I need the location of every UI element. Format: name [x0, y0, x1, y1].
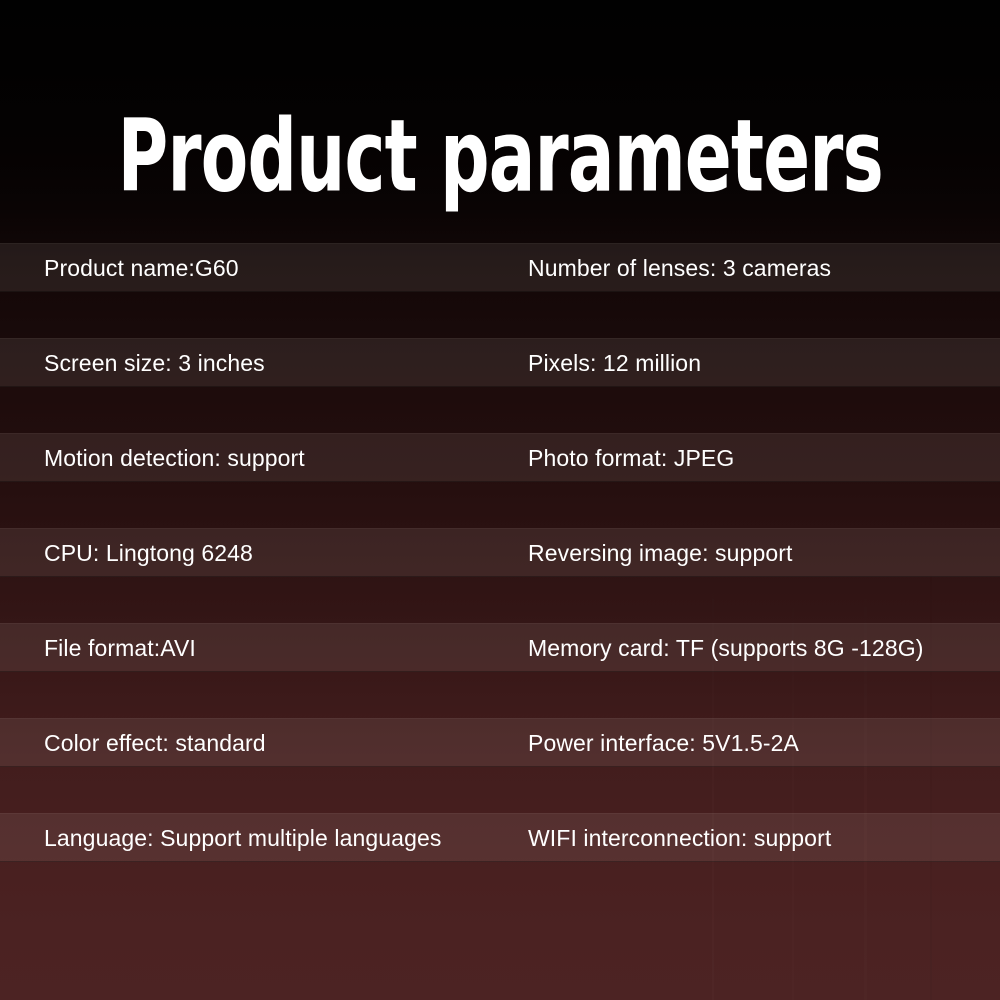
spec-row: CPU: Lingtong 6248 Reversing image: supp… — [0, 528, 1000, 577]
spec-row: Motion detection: support Photo format: … — [0, 433, 1000, 482]
page-title: Product parameters — [117, 106, 882, 206]
title-bar: Product parameters — [0, 44, 1000, 269]
spec-row: Color effect: standard Power interface: … — [0, 718, 1000, 767]
spec-row: File format:AVI Memory card: TF (support… — [0, 623, 1000, 672]
spec-cell-right: Number of lenses: 3 cameras — [528, 256, 831, 280]
spec-cell-left: Screen size: 3 inches — [44, 351, 265, 375]
spec-row: Product name:G60 Number of lenses: 3 cam… — [0, 243, 1000, 292]
spec-cell-left: Language: Support multiple languages — [44, 826, 441, 850]
spec-cell-right: Memory card: TF (supports 8G -128G) — [528, 636, 923, 660]
spec-cell-right: Reversing image: support — [528, 541, 792, 565]
spec-cell-left: File format:AVI — [44, 636, 196, 660]
product-parameters-page: Product parameters Product name:G60 Numb… — [0, 0, 1000, 1000]
spec-cell-left: Product name:G60 — [44, 256, 239, 280]
spec-cell-right: Pixels: 12 million — [528, 351, 701, 375]
spec-cell-right: Photo format: JPEG — [528, 446, 734, 470]
spec-row: Language: Support multiple languages WIF… — [0, 813, 1000, 862]
spec-cell-left: CPU: Lingtong 6248 — [44, 541, 253, 565]
spec-cell-right: WIFI interconnection: support — [528, 826, 831, 850]
spec-cell-left: Color effect: standard — [44, 731, 266, 755]
spec-cell-right: Power interface: 5V1.5-2A — [528, 731, 799, 755]
spec-cell-left: Motion detection: support — [44, 446, 305, 470]
spec-row: Screen size: 3 inches Pixels: 12 million — [0, 338, 1000, 387]
spec-table: Product name:G60 Number of lenses: 3 cam… — [0, 243, 1000, 862]
